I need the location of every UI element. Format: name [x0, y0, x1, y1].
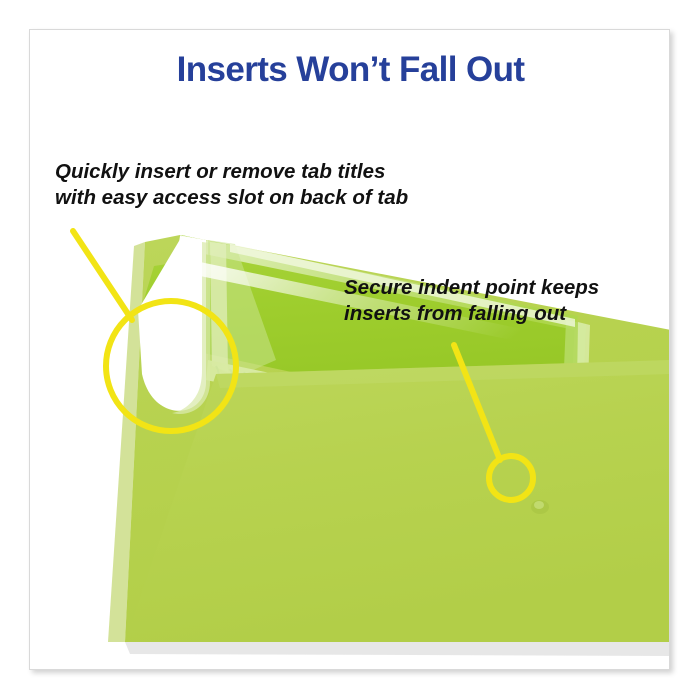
callout-caption-slot-line-2: with easy access slot on back of tab	[55, 185, 408, 211]
divider-front-sheet	[125, 360, 670, 642]
screenshot-root: Inserts Won’t Fall Out Quickly insert or…	[0, 0, 700, 700]
callout-caption-slot-line-1: Quickly insert or remove tab titles	[55, 159, 408, 185]
leader-line-slot	[73, 231, 132, 320]
product-photo	[30, 30, 670, 670]
callout-caption-indent-line-2: inserts from falling out	[344, 301, 599, 327]
product-drop-shadow	[125, 642, 670, 656]
callout-caption-indent-line-1: Secure indent point keeps	[344, 275, 599, 301]
callout-caption-slot: Quickly insert or remove tab titles with…	[55, 159, 408, 211]
divider-illustration	[30, 30, 670, 670]
product-photo-frame: Inserts Won’t Fall Out Quickly insert or…	[29, 29, 670, 670]
secure-indent-point	[531, 500, 549, 514]
page-title: Inserts Won’t Fall Out	[30, 50, 670, 90]
callout-caption-indent: Secure indent point keeps inserts from f…	[344, 275, 599, 327]
